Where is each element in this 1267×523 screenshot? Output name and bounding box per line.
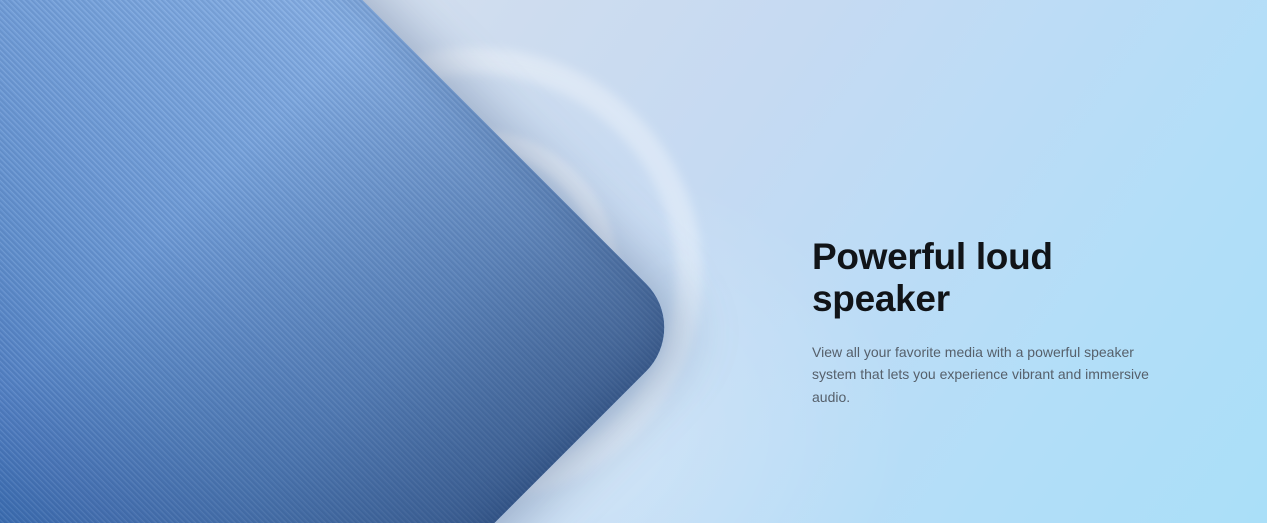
phone-product-image [0,0,690,523]
banner-body-text: View all your favorite media with a powe… [812,341,1150,409]
product-feature-banner: Powerful loud speaker View all your favo… [0,0,1267,523]
banner-headline: Powerful loud speaker [812,236,1162,320]
copy-block: Powerful loud speaker View all your favo… [812,236,1162,409]
